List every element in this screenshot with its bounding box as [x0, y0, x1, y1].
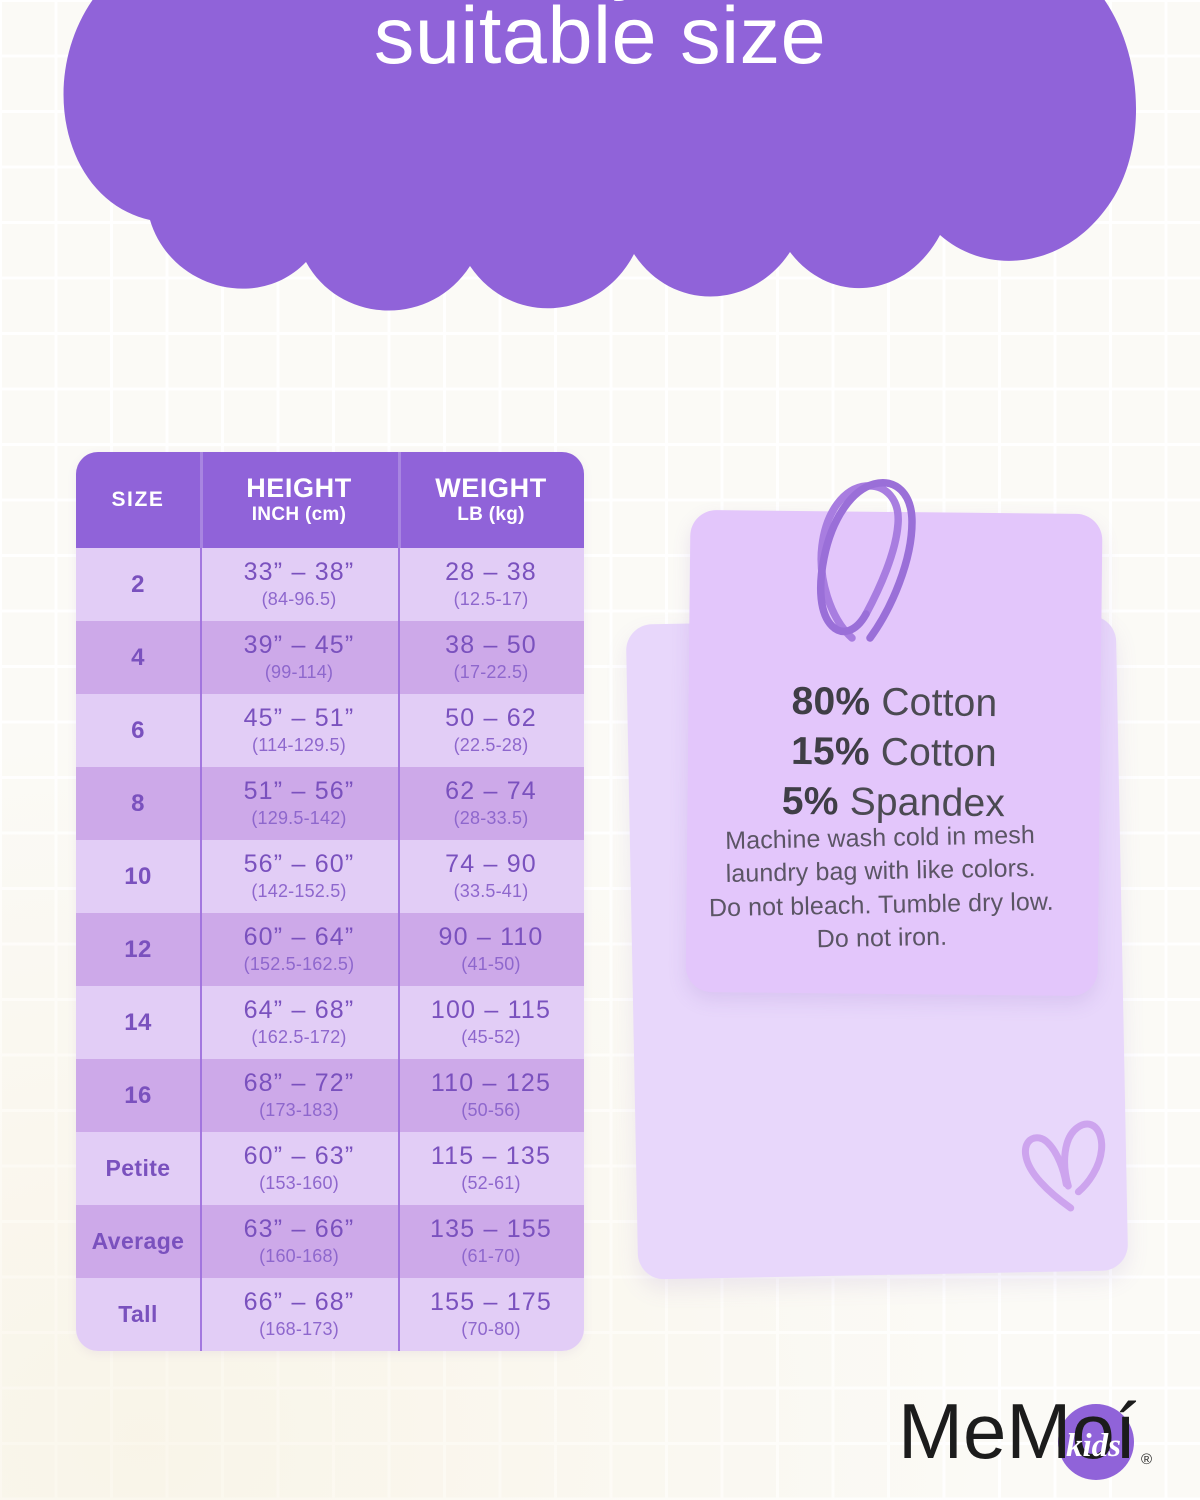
cell-height: 68” – 72”(173-183) [200, 1059, 398, 1132]
size-value: 2 [131, 572, 145, 598]
height-inches: 33” – 38” [244, 559, 355, 586]
table-row: 1464” – 68”(162.5-172)100 – 115(45-52) [76, 986, 584, 1059]
weight-kg: (61-70) [461, 1246, 520, 1267]
weight-lb: 155 – 175 [430, 1289, 552, 1316]
size-value: 6 [131, 718, 145, 744]
height-inches: 39” – 45” [244, 632, 355, 659]
cell-height: 64” – 68”(162.5-172) [200, 986, 398, 1059]
header-cloud: Find your suitable size [0, 0, 1200, 400]
cell-size: 12 [76, 913, 200, 986]
size-chart-infographic: Find your suitable size SIZE HEIGHT INCH… [0, 0, 1200, 1500]
weight-kg: (28-33.5) [454, 808, 529, 829]
cell-weight: 115 – 135(52-61) [398, 1132, 584, 1205]
notes-group: 80% Cotton 15% Cotton 5% Spandex Machine… [616, 492, 1136, 1282]
table-body: 233” – 38”(84-96.5)28 – 38(12.5-17)439” … [76, 548, 584, 1351]
height-cm: (99-114) [265, 662, 333, 683]
height-inches: 63” – 66” [244, 1216, 355, 1243]
column-header-size-main: SIZE [111, 489, 164, 511]
weight-kg: (50-56) [461, 1100, 520, 1121]
cell-height: 60” – 64”(152.5-162.5) [200, 913, 398, 986]
fabric-line: 5% Spandex [782, 780, 1006, 826]
column-header-weight: WEIGHT LB (kg) [398, 452, 584, 548]
heart-doodle-icon [1007, 1111, 1129, 1233]
weight-kg: (52-61) [461, 1173, 520, 1194]
cell-weight: 50 – 62(22.5-28) [398, 694, 584, 767]
fabric-material: Spandex [849, 781, 1005, 826]
height-cm: (152.5-162.5) [244, 954, 355, 975]
size-value: 8 [131, 791, 145, 817]
cell-weight: 28 – 38(12.5-17) [398, 548, 584, 621]
height-cm: (160-168) [259, 1246, 339, 1267]
logo-trademark: ® [1141, 1451, 1152, 1468]
weight-lb: 50 – 62 [445, 705, 537, 732]
height-inches: 68” – 72” [244, 1070, 355, 1097]
height-cm: (153-160) [259, 1173, 339, 1194]
size-table: SIZE HEIGHT INCH (cm) WEIGHT LB (kg) 233… [76, 452, 584, 1351]
height-cm: (114-129.5) [252, 735, 346, 756]
table-row: 1668” – 72”(173-183)110 – 125(50-56) [76, 1059, 584, 1132]
fabric-percent: 5% [782, 780, 839, 824]
cell-size: 6 [76, 694, 200, 767]
cell-size: Petite [76, 1132, 200, 1205]
weight-kg: (12.5-17) [454, 589, 529, 610]
cell-size: Tall [76, 1278, 200, 1351]
title-line-2: suitable size [0, 0, 1200, 77]
fabric-percent: 15% [791, 730, 870, 774]
cell-size: Average [76, 1205, 200, 1278]
height-inches: 45” – 51” [244, 705, 355, 732]
size-value: Petite [105, 1156, 170, 1181]
weight-kg: (33.5-41) [454, 881, 529, 902]
height-cm: (173-183) [259, 1100, 339, 1121]
cell-weight: 90 – 110(41-50) [398, 913, 584, 986]
cell-height: 60” – 63”(153-160) [200, 1132, 398, 1205]
cell-weight: 74 – 90(33.5-41) [398, 840, 584, 913]
weight-kg: (22.5-28) [454, 735, 529, 756]
column-header-height-main: HEIGHT [246, 474, 352, 502]
size-value: 16 [124, 1083, 152, 1109]
fabric-material: Cotton [881, 681, 998, 725]
cell-weight: 62 – 74(28-33.5) [398, 767, 584, 840]
cell-weight: 155 – 175(70-80) [398, 1278, 584, 1351]
column-divider-1 [200, 548, 202, 1351]
size-value: 14 [124, 1010, 152, 1036]
memoi-kids-logo: MeMoí kids ® [898, 1392, 1180, 1488]
height-cm: (84-96.5) [262, 589, 337, 610]
height-cm: (162.5-172) [251, 1027, 346, 1048]
weight-kg: (70-80) [461, 1319, 520, 1340]
cell-height: 39” – 45”(99-114) [200, 621, 398, 694]
logo-badge-text: kids [1066, 1428, 1121, 1464]
table-row: 1056” – 60”(142-152.5)74 – 90(33.5-41) [76, 840, 584, 913]
cell-weight: 110 – 125(50-56) [398, 1059, 584, 1132]
fabric-material: Cotton [881, 731, 998, 775]
column-header-size: SIZE [76, 452, 200, 548]
height-inches: 64” – 68” [244, 997, 355, 1024]
size-value: 12 [124, 937, 152, 963]
weight-lb: 38 – 50 [445, 632, 537, 659]
column-header-weight-sub: LB (kg) [457, 504, 525, 526]
column-header-height-sub: INCH (cm) [252, 504, 347, 526]
column-header-weight-main: WEIGHT [435, 474, 547, 502]
size-value: 4 [131, 645, 145, 671]
table-row: 645” – 51”(114-129.5)50 – 62(22.5-28) [76, 694, 584, 767]
height-inches: 60” – 63” [244, 1143, 355, 1170]
cell-weight: 100 – 115(45-52) [398, 986, 584, 1059]
height-inches: 60” – 64” [244, 924, 355, 951]
weight-lb: 62 – 74 [445, 778, 537, 805]
size-value: 10 [124, 864, 152, 890]
table-row: Average63” – 66”(160-168)135 – 155(61-70… [76, 1205, 584, 1278]
weight-kg: (41-50) [461, 954, 520, 975]
cell-weight: 135 – 155(61-70) [398, 1205, 584, 1278]
table-row: 233” – 38”(84-96.5)28 – 38(12.5-17) [76, 548, 584, 621]
cell-height: 45” – 51”(114-129.5) [200, 694, 398, 767]
weight-lb: 135 – 155 [430, 1216, 552, 1243]
cell-height: 56” – 60”(142-152.5) [200, 840, 398, 913]
table-row: Petite60” – 63”(153-160)115 – 135(52-61) [76, 1132, 584, 1205]
cell-weight: 38 – 50(17-22.5) [398, 621, 584, 694]
fabric-percent: 80% [791, 680, 870, 724]
fabric-line: 15% Cotton [791, 730, 997, 776]
height-inches: 56” – 60” [244, 851, 355, 878]
weight-kg: (17-22.5) [454, 662, 529, 683]
cell-height: 51” – 56”(129.5-142) [200, 767, 398, 840]
paperclip-icon [800, 468, 940, 678]
cell-size: 16 [76, 1059, 200, 1132]
fabric-line: 80% Cotton [791, 680, 997, 726]
cell-size: 10 [76, 840, 200, 913]
page-title: Find your suitable size [0, 0, 1200, 77]
size-value: Tall [118, 1302, 158, 1327]
care-instructions: Machine wash cold in mesh laundry bag wi… [655, 818, 1107, 960]
height-cm: (142-152.5) [251, 881, 346, 902]
cell-size: 14 [76, 986, 200, 1059]
table-row: Tall66” – 68”(168-173)155 – 175(70-80) [76, 1278, 584, 1351]
height-cm: (168-173) [259, 1319, 339, 1340]
weight-lb: 90 – 110 [438, 924, 543, 951]
weight-lb: 110 – 125 [431, 1070, 551, 1097]
cell-height: 63” – 66”(160-168) [200, 1205, 398, 1278]
table-row: 851” – 56”(129.5-142)62 – 74(28-33.5) [76, 767, 584, 840]
height-inches: 66” – 68” [244, 1289, 355, 1316]
cell-height: 66” – 68”(168-173) [200, 1278, 398, 1351]
weight-kg: (45-52) [461, 1027, 520, 1048]
size-value: Average [92, 1229, 185, 1254]
column-header-height: HEIGHT INCH (cm) [200, 452, 398, 548]
weight-lb: 115 – 135 [431, 1143, 551, 1170]
weight-lb: 74 – 90 [445, 851, 537, 878]
table-row: 1260” – 64”(152.5-162.5)90 – 110(41-50) [76, 913, 584, 986]
weight-lb: 28 – 38 [445, 559, 537, 586]
cell-size: 2 [76, 548, 200, 621]
table-row: 439” – 45”(99-114)38 – 50(17-22.5) [76, 621, 584, 694]
cell-size: 8 [76, 767, 200, 840]
cell-size: 4 [76, 621, 200, 694]
cell-height: 33” – 38”(84-96.5) [200, 548, 398, 621]
height-inches: 51” – 56” [244, 778, 355, 805]
column-divider-2 [398, 548, 400, 1351]
height-cm: (129.5-142) [251, 808, 346, 829]
weight-lb: 100 – 115 [431, 997, 551, 1024]
table-header-row: SIZE HEIGHT INCH (cm) WEIGHT LB (kg) [76, 452, 584, 548]
